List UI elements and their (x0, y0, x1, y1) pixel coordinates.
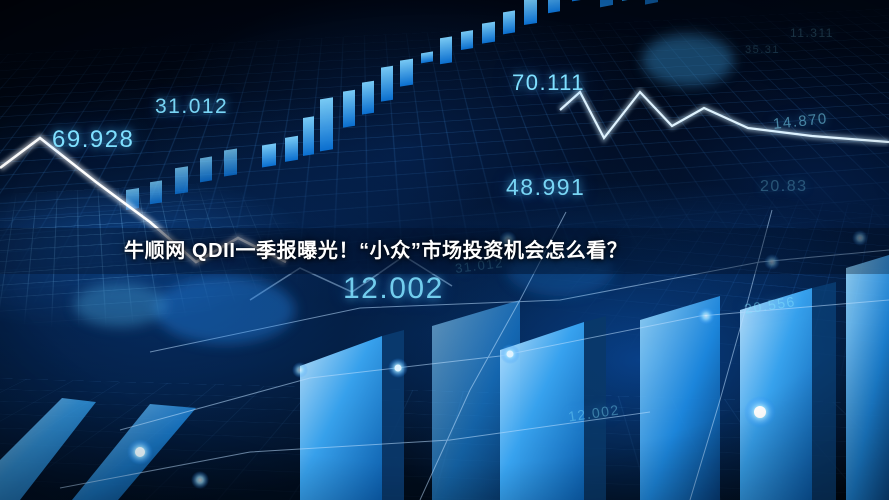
page-title: 牛顺网 QDII一季报曝光！“小众”市场投资机会怎么看？ (124, 234, 627, 263)
banner-image: 31.012 69.928 70.111 48.991 12.002 31.01… (0, 0, 889, 500)
